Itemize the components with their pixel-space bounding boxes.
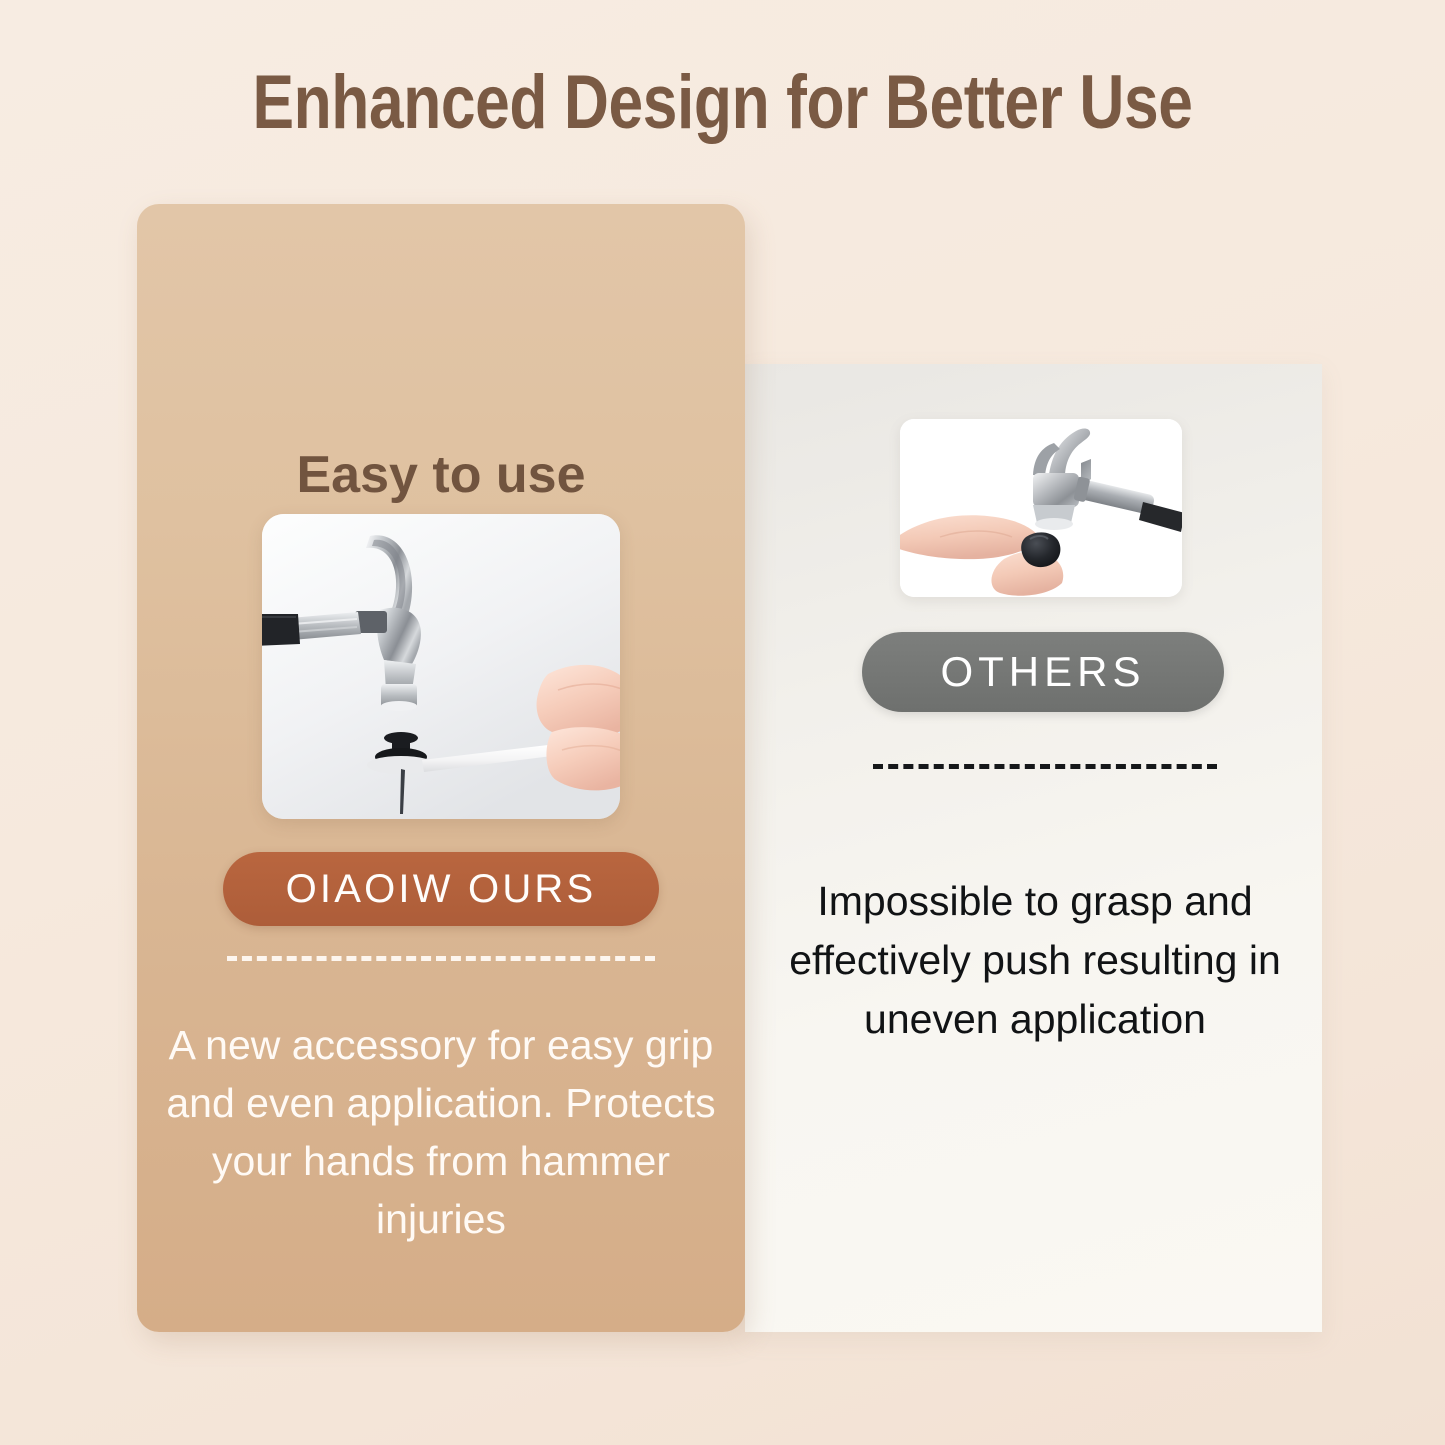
others-badge-label: OTHERS [940,648,1145,696]
others-divider [873,764,1217,769]
others-badge: OTHERS [862,632,1224,712]
ours-badge-label: OIAOIW OURS [286,867,597,912]
infographic-canvas: Enhanced Design for Better Use [0,0,1445,1445]
others-description: Impossible to grasp and effectively push… [765,872,1305,1049]
fingers-pinching-nail-photo [900,419,1182,597]
page-title: Enhanced Design for Better Use [130,55,1315,151]
ours-divider [227,956,655,961]
ours-heading: Easy to use [137,444,745,506]
ours-comparison-panel: Easy to use [137,204,745,1332]
others-comparison-panel: OTHERS Impossible to grasp and effective… [745,364,1322,1332]
hammer-nail-grip-photo [262,514,620,819]
ours-description: A new accessory for easy grip and even a… [165,1016,717,1248]
ours-badge: OIAOIW OURS [223,852,659,926]
